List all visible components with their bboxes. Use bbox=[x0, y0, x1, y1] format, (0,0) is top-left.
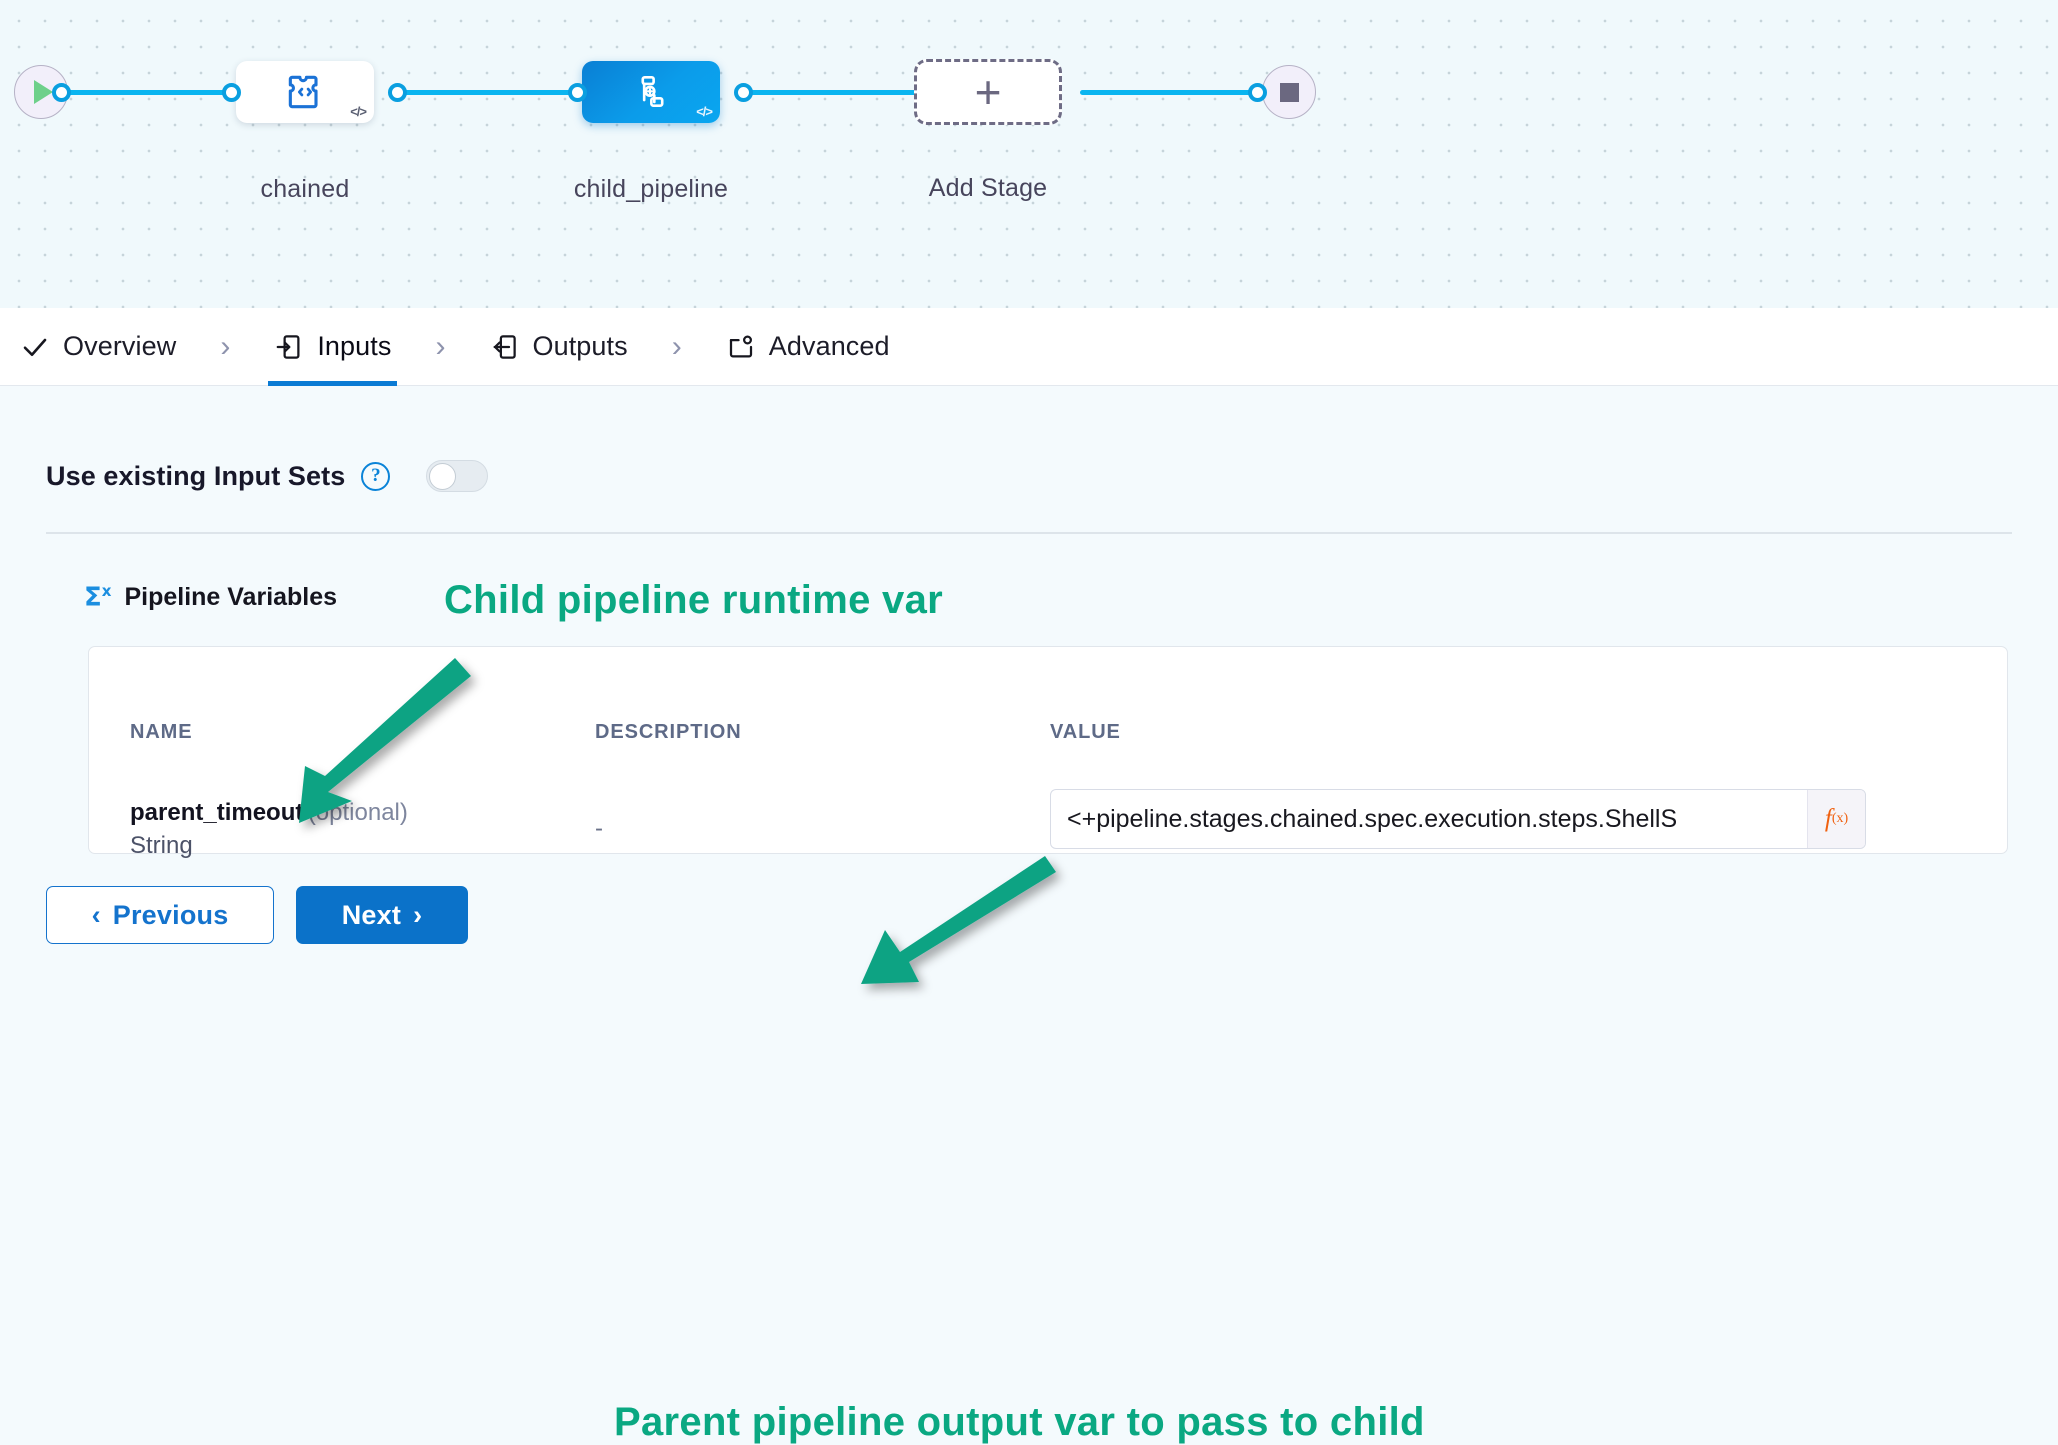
pipeline-variables-header: Σx Pipeline Variables bbox=[84, 582, 337, 613]
stage-code-badge: </> bbox=[696, 104, 712, 119]
variable-type: String bbox=[130, 832, 408, 860]
box-gear-icon bbox=[726, 332, 756, 362]
port-chained-in[interactable] bbox=[222, 83, 241, 102]
section-divider bbox=[46, 532, 2012, 534]
edge-chained-to-child bbox=[402, 90, 592, 95]
pipeline-end-node[interactable] bbox=[1262, 65, 1316, 119]
tab-separator-3: › bbox=[634, 308, 720, 386]
previous-button[interactable]: ‹ Previous bbox=[46, 886, 274, 944]
tab-outputs[interactable]: Outputs bbox=[483, 308, 633, 386]
question-mark-icon[interactable]: ? bbox=[361, 462, 390, 491]
check-icon bbox=[20, 332, 50, 362]
expression-fx-button[interactable]: f(x) bbox=[1807, 790, 1865, 848]
pipeline-canvas[interactable]: </> chained </> child_pipeline + Add Sta… bbox=[0, 0, 2058, 308]
tab-advanced-label: Advanced bbox=[769, 331, 890, 362]
port-child-out[interactable] bbox=[734, 83, 753, 102]
chevron-left-icon: ‹ bbox=[92, 900, 101, 931]
column-header-name: NAME bbox=[130, 721, 193, 744]
port-chained-out[interactable] bbox=[388, 83, 407, 102]
annotation-parent-output-var: Parent pipeline output var to pass to ch… bbox=[614, 1400, 1425, 1445]
tab-overview-label: Overview bbox=[63, 331, 176, 362]
use-existing-input-sets-toggle[interactable] bbox=[426, 460, 488, 492]
port-end-in[interactable] bbox=[1248, 83, 1267, 102]
tab-separator-1: › bbox=[182, 308, 268, 386]
custom-stage-code-icon bbox=[283, 70, 327, 114]
variable-value-input[interactable] bbox=[1051, 790, 1807, 848]
stop-icon bbox=[1280, 83, 1299, 102]
table-row-name-cell: parent_timeout (optional) String bbox=[130, 799, 408, 860]
edge-addstage-to-end bbox=[1080, 90, 1270, 95]
port-child-in[interactable] bbox=[568, 83, 587, 102]
port-start-out[interactable] bbox=[52, 83, 71, 102]
add-stage-label: Add Stage bbox=[858, 174, 1118, 203]
fx-label: f bbox=[1825, 805, 1832, 833]
column-header-description: DESCRIPTION bbox=[595, 721, 742, 744]
variable-value-field-wrap[interactable]: f(x) bbox=[1050, 789, 1866, 849]
tab-advanced[interactable]: Advanced bbox=[720, 308, 896, 386]
edge-start-to-chained bbox=[52, 90, 232, 95]
tab-inputs-label: Inputs bbox=[317, 331, 391, 362]
variable-description: - bbox=[595, 815, 603, 842]
next-button-label: Next bbox=[342, 900, 401, 931]
use-existing-input-sets-row: Use existing Input Sets ? bbox=[46, 460, 488, 492]
fx-sub: (x) bbox=[1832, 811, 1848, 827]
use-existing-input-sets-label: Use existing Input Sets bbox=[46, 461, 345, 492]
plus-icon: + bbox=[975, 69, 1002, 115]
stage-node-child-pipeline[interactable]: </> bbox=[582, 61, 720, 123]
wizard-footer: ‹ Previous Next › bbox=[46, 886, 468, 944]
table-row-description-cell: - bbox=[595, 815, 603, 843]
tab-left-pad bbox=[0, 308, 14, 386]
chevron-right-icon: › bbox=[413, 900, 422, 931]
add-stage-node[interactable]: + bbox=[914, 59, 1062, 125]
sigma-variable-icon: Σx bbox=[84, 582, 111, 613]
column-header-value: VALUE bbox=[1050, 721, 1121, 744]
stage-code-badge: </> bbox=[350, 104, 366, 119]
next-button[interactable]: Next › bbox=[296, 886, 468, 944]
arrow-out-of-box-icon bbox=[489, 332, 519, 362]
pipeline-chain-icon bbox=[630, 71, 672, 113]
stage-label-child-pipeline: child_pipeline bbox=[521, 175, 781, 204]
arrow-into-box-icon bbox=[274, 332, 304, 362]
inputs-panel: Use existing Input Sets ? Σx Pipeline Va… bbox=[0, 386, 2058, 1120]
variable-optional-tag: (optional) bbox=[308, 799, 408, 826]
tab-overview[interactable]: Overview bbox=[14, 308, 182, 386]
previous-button-label: Previous bbox=[113, 900, 229, 931]
annotation-child-runtime-var: Child pipeline runtime var bbox=[444, 578, 943, 623]
toggle-knob bbox=[429, 463, 456, 490]
stage-label-chained: chained bbox=[175, 175, 435, 204]
tab-separator-2: › bbox=[397, 308, 483, 386]
edge-child-to-addstage bbox=[742, 90, 922, 95]
variables-table-card: NAME DESCRIPTION VALUE parent_timeout (o… bbox=[88, 646, 2008, 854]
stage-config-tabs[interactable]: Overview › Inputs › Outputs › Advanced bbox=[0, 308, 2058, 386]
pipeline-variables-title: Pipeline Variables bbox=[124, 583, 337, 612]
table-row-value-cell: f(x) bbox=[1050, 789, 1866, 849]
start-icon bbox=[34, 80, 53, 104]
tab-outputs-label: Outputs bbox=[532, 331, 627, 362]
tab-inputs[interactable]: Inputs bbox=[268, 308, 397, 386]
stage-node-chained[interactable]: </> bbox=[236, 61, 374, 123]
variable-name: parent_timeout bbox=[130, 799, 303, 826]
